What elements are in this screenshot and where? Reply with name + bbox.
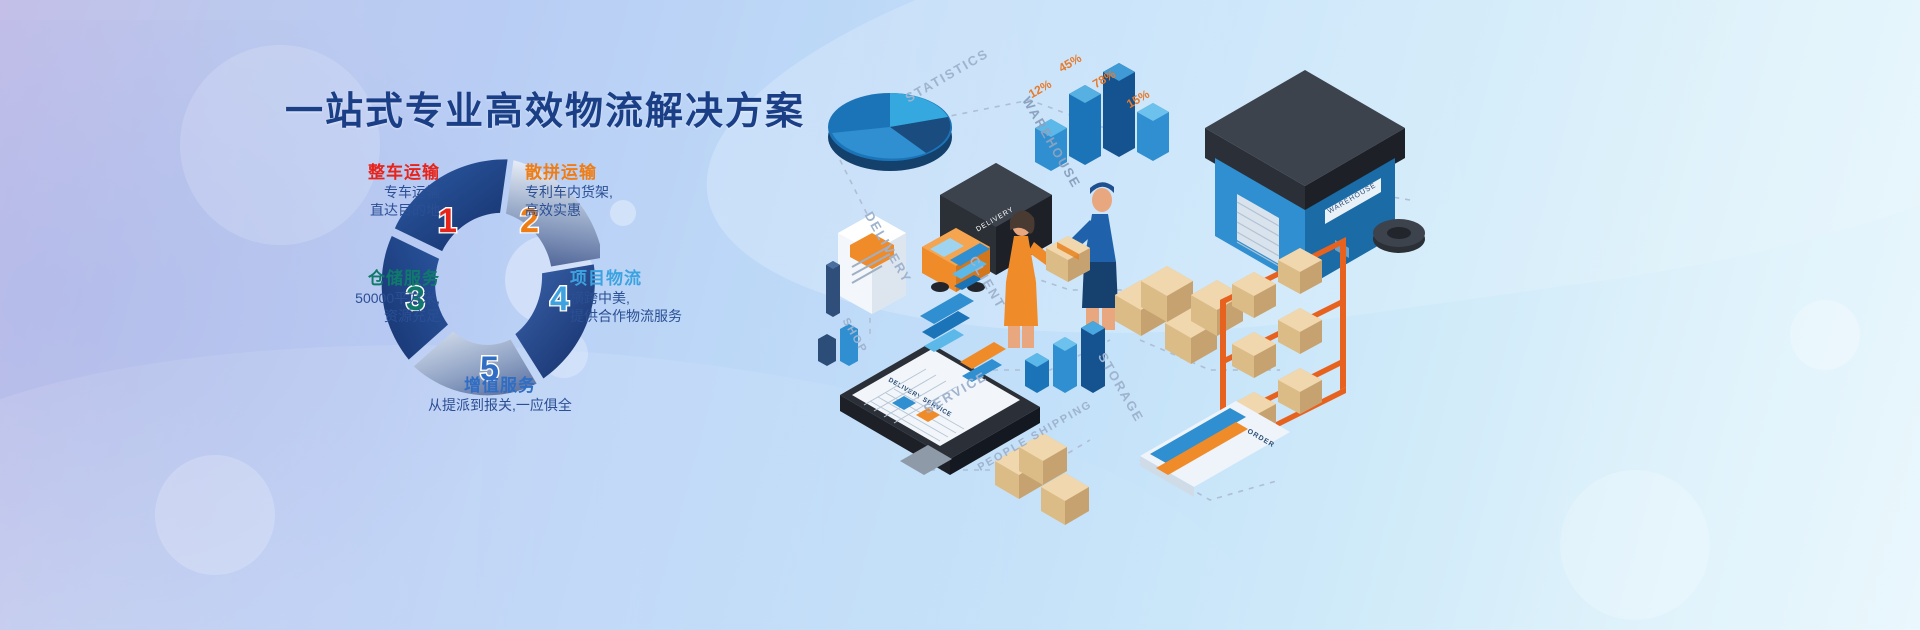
cycle-label-5: 增值服务 从提派到报关,一应俱全 bbox=[385, 375, 615, 415]
cycle-label-4: 项目物流 横跨中美, 提供合作物流服务 bbox=[570, 268, 755, 326]
isometric-logistics-illustration: DELIVERY bbox=[810, 40, 1880, 560]
client-stripes-graphic bbox=[920, 293, 974, 352]
cycle-label-4-line-2: 提供合作物流服务 bbox=[570, 308, 755, 326]
cycle-label-4-line-1: 横跨中美, bbox=[570, 290, 755, 308]
cycle-label-5-title: 增值服务 bbox=[385, 375, 615, 397]
illustration-svg: DELIVERY bbox=[810, 40, 1880, 560]
cycle-label-3-title: 仓储服务 bbox=[265, 268, 440, 290]
cycle-label-3-line-2: 资源充足 bbox=[265, 308, 440, 326]
cycle-label-2: 散拼运输 专利车内货架, 高效实惠 bbox=[525, 162, 695, 220]
tire-graphic bbox=[1373, 219, 1425, 253]
pie-chart-graphic bbox=[828, 93, 952, 171]
cycle-step-number-4: 4 bbox=[550, 280, 569, 319]
cycle-label-3-line-1: 50000平方米, bbox=[265, 290, 440, 308]
cycle-label-1-line-1: 专车运输 bbox=[290, 184, 440, 202]
service-bars-graphic bbox=[1025, 321, 1105, 393]
cycle-label-1-line-2: 直达目的地 bbox=[290, 202, 440, 220]
pen-graphic bbox=[826, 261, 840, 317]
cycle-label-2-title: 散拼运输 bbox=[525, 162, 695, 184]
decorative-circle bbox=[155, 455, 275, 575]
cycle-label-4-title: 项目物流 bbox=[570, 268, 755, 290]
cycle-label-3: 仓储服务 50000平方米, 资源充足 bbox=[265, 268, 440, 326]
logistics-banner: 一站式专业高效物流解决方案 bbox=[0, 0, 1920, 630]
cycle-label-2-line-1: 专利车内货架, bbox=[525, 184, 695, 202]
page-title: 一站式专业高效物流解决方案 bbox=[285, 80, 805, 135]
cycle-label-2-line-2: 高效实惠 bbox=[525, 202, 695, 220]
cycle-step-number-1: 1 bbox=[438, 202, 457, 241]
cycle-label-1-title: 整车运输 bbox=[290, 162, 440, 184]
cycle-label-5-line-1: 从提派到报关,一应俱全 bbox=[385, 397, 615, 415]
cycle-label-1: 整车运输 专车运输 直达目的地 bbox=[290, 162, 440, 220]
process-cycle-diagram: 1 2 3 4 5 整车运输 专车运输 直达目的地 散拼运输 专利车内货架, 高… bbox=[180, 150, 800, 450]
